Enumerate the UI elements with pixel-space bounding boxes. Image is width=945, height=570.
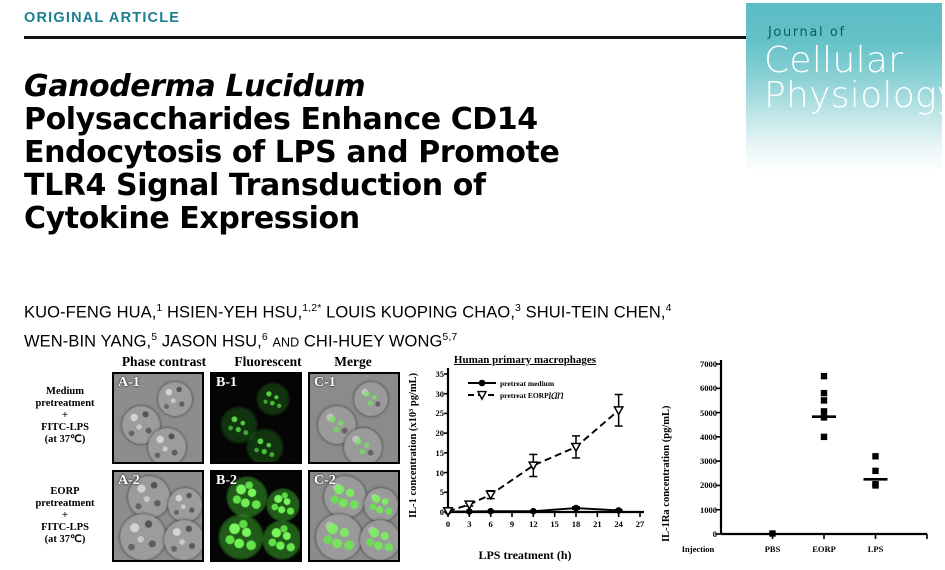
journal-logo-line3: Physiology [764,78,942,114]
cell-image [266,488,300,522]
author-4: SHUI-TEIN CHEN, [526,304,666,322]
author-2-affiliation: 1,2* [302,302,321,314]
row1-label-line5: (at 37℃) [22,434,108,446]
journal-logo-line1: Journal of [768,25,846,40]
article-title: Ganoderma Lucidum Polysaccharides Enhanc… [24,70,724,235]
author-3-affiliation: 3 [515,302,521,314]
author-1-affiliation: 1 [156,302,162,314]
line-chart-x-tick: 21 [587,519,607,529]
column-header-merge: Merge [314,354,392,370]
title-line-1: Ganoderma Lucidum [24,70,724,103]
micrograph-panel-c2: C-2 [308,470,400,562]
micrograph-panel-a2: A-2 [112,470,204,562]
scatter-chart-category-eorp: EORP [796,544,852,554]
row1-label-line3: + [22,410,108,422]
scatter-chart-category-pbs: PBS [745,544,801,554]
row2-label-line1: EORP [22,486,108,498]
row2-label-line2: pretreatment [22,498,108,510]
title-line-3: Endocytosis of LPS and Promote [24,136,724,169]
micrograph-panel-b2: B-2 [210,470,302,562]
panel-label-b1: B-1 [216,375,237,391]
scatter-chart: IL-1Ra concentration (pg/mL) 01000200030… [655,352,943,570]
row2-label-line4: FITC-LPS [22,522,108,534]
cell-image [360,520,400,560]
scatter-chart-y-tick: 1000 [681,505,717,515]
scatter-chart-y-tick: 7000 [681,359,717,369]
kicker-original-article: ORIGINAL ARTICLE [24,10,180,26]
cell-image [354,382,388,416]
column-header-fluorescent: Fluorescent [218,354,318,370]
line-chart-y-tick: 35 [420,369,444,379]
line-chart-y-tick: 30 [420,389,444,399]
cell-image [164,520,204,560]
panel-label-a1: A-1 [118,375,140,391]
author-5-affiliation: 5 [151,331,157,343]
scatter-chart-category-lps: LPS [848,544,904,554]
row2-label-line3: + [22,510,108,522]
figure-strip: Phase contrast Fluorescent Merge Medium … [0,352,945,570]
cell-image [246,428,284,464]
line-chart-y-tick: 5 [420,487,444,497]
row-label-eorp-pretreatment: EORP pretreatment + FITC-LPS (at 37℃) [22,486,108,546]
line-chart-x-tick: 27 [630,519,650,529]
line-chart-x-tick: 6 [481,519,501,529]
column-header-phase-contrast: Phase contrast [114,354,214,370]
line-chart-y-tick: 0 [420,507,444,517]
cell-image [256,382,290,416]
author-3: LOUIS KUOPING CHAO, [326,304,515,322]
cell-image [148,428,186,464]
micrograph-panel-b1: B-1 [210,372,302,464]
header-rule [24,36,836,39]
author-6-affiliation: 6 [262,331,268,343]
line-chart-legend-item-eorp: pretreat EORP [500,391,549,400]
line-chart-x-tick: 18 [566,519,586,529]
line-chart-y-tick: 20 [420,428,444,438]
scatter-chart-y-tick: 4000 [681,432,717,442]
line-chart-x-tick: 24 [609,519,629,529]
row-label-medium-pretreatment: Medium pretreatment + FITC-LPS (at 37℃) [22,386,108,446]
line-chart-x-tick: 12 [523,519,543,529]
panel-label-c1: C-1 [314,375,336,391]
row1-label-line2: pretreatment [22,398,108,410]
panel-label-a2: A-2 [118,473,140,489]
cell-image [120,514,166,560]
panel-label-c2: C-2 [314,473,336,489]
scatter-chart-y-tick: 6000 [681,383,717,393]
scatter-chart-y-tick: 0 [681,529,717,539]
line-chart-x-tick: 3 [459,519,479,529]
cell-image [262,520,302,560]
line-chart-y-tick: 15 [420,448,444,458]
author-1: KUO-FENG HUA, [24,304,156,322]
line-chart-x-tick: 0 [438,519,458,529]
author-7-affiliation: 5,7 [442,331,457,343]
title-line-5: Cytokine Expression [24,202,724,235]
line-chart-x-tick: 9 [502,519,522,529]
scatter-chart-y-tick: 3000 [681,456,717,466]
cell-image [316,514,362,560]
author-6: JASON HSU, [162,332,262,350]
title-line-4: TLR4 Signal Transduction of [24,169,724,202]
author-conjunction: AND [273,335,300,349]
author-4-affiliation: 4 [666,302,672,314]
micrograph-figure: Phase contrast Fluorescent Merge Medium … [22,352,390,570]
author-5: WEN-BIN YANG, [24,332,151,350]
scatter-chart-y-tick: 2000 [681,480,717,490]
micrograph-panel-a1: A-1 [112,372,204,464]
author-list: KUO-FENG HUA,1 HSIEN-YEH HSU,1,2* LOUIS … [24,296,914,354]
line-chart: Human primary macrophages IL-1 concentra… [400,352,650,570]
journal-logo-line2: Cellular [764,43,903,79]
scan-artifact-text: ıап [548,388,563,404]
scatter-chart-x-axis-label: Injection [669,544,727,554]
cell-image [168,488,202,522]
line-chart-legend-item-medium: pretreat medium [500,379,554,388]
cell-image [158,382,192,416]
journal-logo: Journal of Cellular Physiology [746,3,942,171]
row1-label-line1: Medium [22,386,108,398]
row2-label-line5: (at 37℃) [22,534,108,546]
cell-image [364,488,398,522]
cell-image [344,428,382,464]
panel-label-b2: B-2 [216,473,237,489]
line-chart-y-tick: 10 [420,468,444,478]
author-7: CHI-HUEY WONG [304,332,443,350]
cell-image [218,514,264,560]
row1-label-line4: FITC-LPS [22,422,108,434]
line-chart-y-tick: 25 [420,408,444,418]
title-line-2: Polysaccharides Enhance CD14 [24,103,724,136]
line-chart-x-tick: 15 [545,519,565,529]
micrograph-panel-c1: C-1 [308,372,400,464]
scatter-chart-y-tick: 5000 [681,408,717,418]
author-2: HSIEN-YEH HSU, [167,304,302,322]
